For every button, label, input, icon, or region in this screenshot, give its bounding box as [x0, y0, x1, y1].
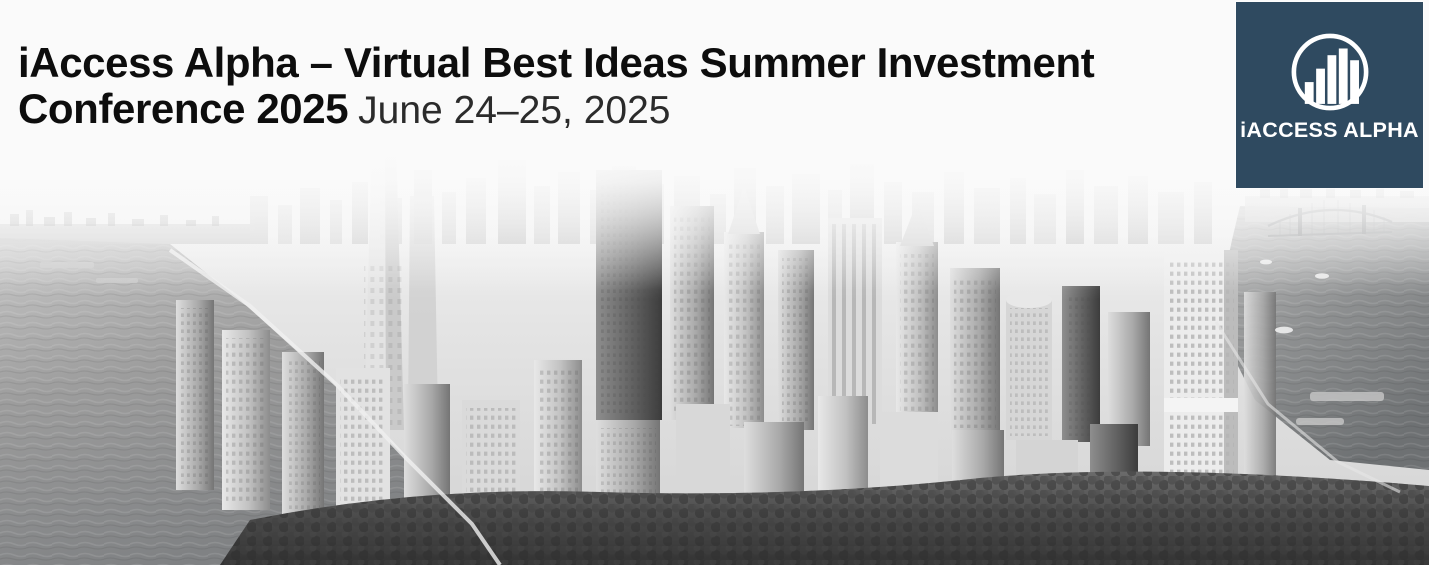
banner-headline: iAccess Alpha – Virtual Best Ideas Summe…	[18, 42, 1094, 130]
conference-dates: June 24–25, 2025	[358, 89, 670, 132]
conference-banner: iAccess Alpha – Virtual Best Ideas Summe…	[0, 0, 1429, 565]
circle-bar-chart-icon	[1288, 30, 1372, 114]
headline-line-1: iAccess Alpha – Virtual Best Ideas Summe…	[18, 42, 1094, 84]
logo-wordmark: iACCESS ALPHA	[1240, 118, 1419, 143]
conference-title-end: Conference 2025	[18, 85, 348, 132]
headline-line-2: Conference 2025June 24–25, 2025	[18, 88, 1094, 130]
iaccess-alpha-logo[interactable]: iACCESS ALPHA	[1236, 2, 1423, 188]
